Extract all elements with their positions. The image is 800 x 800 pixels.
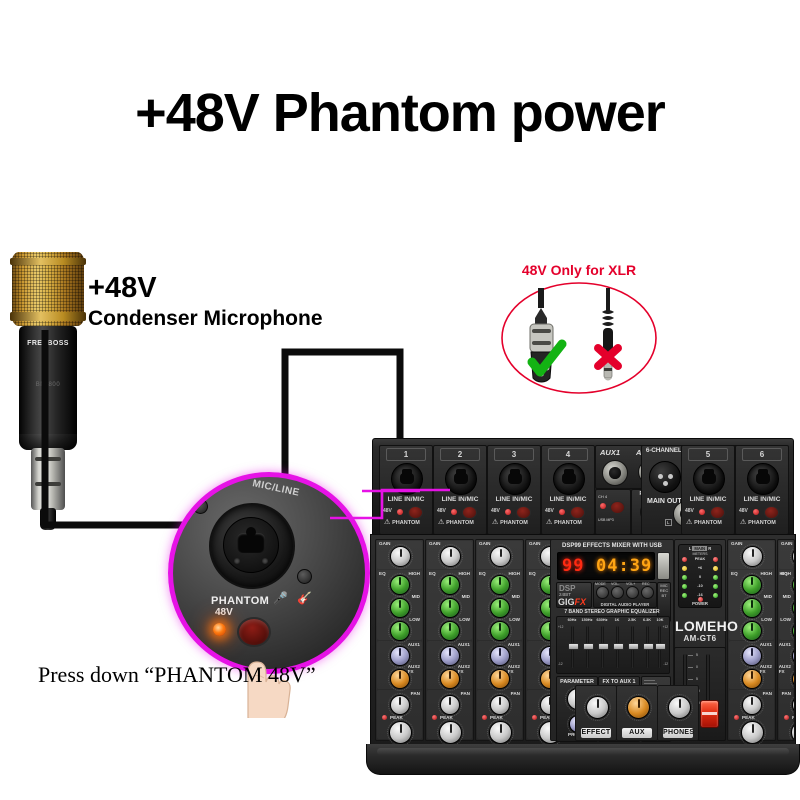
page-title: +48V Phantom power (0, 82, 800, 144)
channel-strip-5: GAINEQHIGHMIDLOWAUX1AUX2FXPANPEAK5 (727, 539, 776, 741)
gain-knob-2[interactable] (440, 546, 461, 567)
eq-band-label-5: 6.3K (640, 618, 654, 622)
fader-scale-2: 5 (696, 677, 698, 681)
rear-48v-label: 48V (491, 508, 500, 514)
pan-label: PAN (782, 691, 791, 696)
magnifier-screw (193, 499, 208, 514)
dsp-header-label: DSP99 EFFECTS MIXER WITH USB (551, 543, 673, 549)
vu-led (713, 575, 718, 580)
gain-label: GAIN (529, 541, 540, 546)
low-label: LOW (761, 617, 772, 622)
aux1-knob-1[interactable] (390, 646, 410, 666)
eq-mid-knob-3[interactable] (490, 598, 510, 618)
magnifier-miclinetxt: MIC/LINE (231, 474, 321, 503)
combo-jack-3[interactable] (499, 463, 531, 495)
rear-48v-label: 48V (545, 508, 554, 514)
combo-jack-6[interactable] (747, 463, 779, 495)
high-label: HIGH (459, 571, 470, 576)
low-label: LOW (509, 617, 520, 622)
aux1-knob-2[interactable] (440, 646, 460, 666)
master-tag-effect: EFFECT (581, 728, 611, 738)
eq-low-knob-5[interactable] (742, 621, 762, 641)
line-in-mic-label: LINE IN/MIC (682, 496, 734, 503)
eq-title-label: 7 BAND STEREO GRAPHIC EQUALIZER (551, 609, 673, 615)
guitar-icon: 🎸 (297, 591, 312, 605)
eq-band-label-6: 10K (653, 618, 667, 622)
gain-label: GAIN (781, 541, 792, 546)
player-button-volminus[interactable] (611, 586, 624, 599)
channel-strip-2: GAINEQHIGHMIDLOWAUX1AUX2FXPANPEAK2 (425, 539, 474, 741)
aux2-fx-knob-2[interactable] (440, 669, 460, 689)
phantom-button-6[interactable] (764, 506, 779, 519)
line-in-mic-label: LINE IN/MIC (542, 496, 594, 503)
instruction-caption: Press down “PHANTOM 48V” (38, 662, 316, 688)
level-knob-6[interactable] (791, 721, 795, 741)
eq-scale-bottom-right: -12 (663, 662, 668, 666)
rear-channel-number: 3 (494, 448, 534, 461)
peak-led-4 (532, 715, 537, 720)
eq-low-knob-6[interactable] (792, 621, 795, 641)
rear-channel-3[interactable]: 3 LINE IN/MIC 48V ⚠ PHANTOM (487, 445, 541, 535)
vu-row-minus10: -10 (682, 584, 718, 591)
aux2-fx-knob-6[interactable] (792, 669, 795, 689)
aux1-label: AUX1 (760, 642, 772, 647)
gain-knob-3[interactable] (490, 546, 511, 567)
mic-band-top (10, 258, 86, 265)
gain-label: GAIN (429, 541, 440, 546)
aux1-knob-6[interactable] (792, 646, 795, 666)
pan-knob-3[interactable] (490, 695, 510, 715)
aux2-fx-knob-1[interactable] (390, 669, 410, 689)
player-title-label: DIGITAL AUDIO PLAYER (594, 602, 656, 607)
mic-band-bottom (10, 312, 86, 321)
eq-high-knob-5[interactable] (742, 575, 762, 595)
high-label: HIGH (509, 571, 520, 576)
aux1-label: AUX1 (779, 642, 791, 647)
dsp-logo: DSP 24BIT GIGFX (556, 582, 592, 608)
ch4-label: CH 4 (598, 494, 607, 499)
eq-mid-knob-5[interactable] (742, 598, 762, 618)
aux2-fx-label: AUX2FX (779, 665, 791, 674)
rear-channel-number: 1 (386, 448, 426, 461)
low-label: LOW (780, 617, 791, 622)
channel-strip-1: GAINEQHIGHMIDLOWAUX1AUX2FXPANPEAK1 (375, 539, 424, 741)
aux1-label: AUX1 (458, 642, 470, 647)
combo-jack-2[interactable] (445, 463, 477, 495)
vu-row-peak: PEAK (682, 557, 718, 564)
aux1-knob-3[interactable] (490, 646, 510, 666)
aux2-fx-knob-5[interactable] (742, 669, 762, 689)
gain-knob-1[interactable] (390, 546, 411, 567)
gain-label: GAIN (731, 541, 742, 546)
graphic-equalizer: +12 -12 +12 -12 60Hz 150Hz 630Hz 1K 2.5K… (556, 616, 670, 674)
rear-channel-6[interactable]: 6 LINE IN/MIC 48V ⚠ PHANTOM (735, 445, 789, 535)
phantom-led-4 (559, 509, 565, 515)
magnifier-phantom-label: PHANTOM (211, 595, 269, 607)
pan-knob-1[interactable] (390, 695, 410, 715)
peak-label: PEAK (792, 715, 795, 720)
mixer-top-panel: GAINEQHIGHMIDLOWAUX1AUX2FXPANPEAK1 GAINE… (370, 534, 796, 748)
rear-48v-label: 48V (739, 508, 748, 514)
led-display: 99 04:39 (557, 552, 655, 580)
eq-label: EQ (479, 571, 486, 576)
eq-slider-3[interactable] (613, 643, 624, 650)
level-knob-1[interactable] (389, 721, 412, 744)
vu-header: L MAIN R (679, 546, 721, 551)
peak-led-5 (734, 715, 739, 720)
mid-label: MID (412, 594, 420, 599)
phantom-led (213, 623, 226, 636)
mid-label: MID (764, 594, 772, 599)
phantom-switch-magnifier: MIC/LINE PHANTOM 48V 🎤 🎸 (168, 472, 368, 672)
program-number-display: 99 (562, 556, 584, 576)
mic-48v-label: +48V (88, 272, 157, 305)
magnifier-jack-pin (262, 558, 268, 564)
vu-power-label: POWER (679, 601, 721, 606)
vu-led (713, 584, 718, 589)
phantom-button-3[interactable] (516, 506, 531, 519)
eq-mid-knob-2[interactable] (440, 598, 460, 618)
player-button-volplus[interactable] (626, 586, 639, 599)
digital-audio-player: MODE VOL- VOL+ REC DIGITAL AUDIO PLAYER (593, 582, 657, 608)
effect-knob[interactable] (586, 696, 609, 719)
vu-meter: L MAIN R METERS PEAK +6 0 (678, 544, 722, 608)
xlr-callout-title: 48V Only for XLR (484, 262, 674, 278)
rear-phantom-label: PHANTOM (682, 520, 734, 526)
rear-channel-number: 2 (440, 448, 480, 461)
peak-led-2 (432, 715, 437, 720)
magnifier-screw (297, 569, 312, 584)
rear-channel-number: 5 (688, 448, 728, 461)
rear-48v-label: 48V (437, 508, 446, 514)
phantom-button-5[interactable] (710, 506, 725, 519)
combo-jack-4[interactable] (553, 463, 585, 495)
eq-slider-0[interactable] (568, 643, 579, 650)
rear-channel-4[interactable]: 4 LINE IN/MIC 48V ⚠ PHANTOM (541, 445, 595, 535)
peak-led-1 (382, 715, 387, 720)
level-knob-2[interactable] (439, 721, 462, 744)
master-section-phones: PHONES (657, 685, 699, 741)
high-label: HIGH (409, 571, 420, 576)
phantom-button-2[interactable] (462, 506, 477, 519)
pan-label: PAN (411, 691, 420, 696)
eq-mid-knob-1[interactable] (390, 598, 410, 618)
eq-slider-5[interactable] (643, 643, 654, 650)
line-in-mic-label: LINE IN/MIC (488, 496, 540, 503)
mid-label: MID (512, 594, 520, 599)
ch4-usb-button[interactable] (610, 501, 625, 514)
combo-jack-5[interactable] (693, 463, 725, 495)
eq-band-label-0: 60Hz (565, 618, 579, 622)
eq-high-knob-6[interactable] (792, 575, 795, 595)
eq-label: EQ (379, 571, 386, 576)
master-section-aux: AUX (616, 685, 658, 741)
high-label: HIGH (780, 571, 791, 576)
main-out-l-tag: L (665, 519, 672, 526)
phantom-button-4[interactable] (570, 506, 585, 519)
magnifier-combo-jack[interactable] (209, 503, 295, 589)
fader-scale-0: 5 (696, 653, 698, 657)
vu-led (713, 566, 718, 571)
rear-channel-5[interactable]: 5 LINE IN/MIC 48V ⚠ PHANTOM (681, 445, 735, 535)
eq-scale-bottom: -12 (558, 662, 563, 666)
aux-knob[interactable] (627, 696, 650, 719)
peak-led-3 (482, 715, 487, 720)
low-label: LOW (459, 617, 470, 622)
brand-name: LOMEHO (675, 618, 725, 634)
level-knob-3[interactable] (489, 721, 512, 744)
mid-label: MID (462, 594, 470, 599)
aux1-label: AUX1 (600, 448, 620, 457)
pan-label: PAN (461, 691, 470, 696)
phantom-led-1 (397, 509, 403, 515)
line-in-mic-label: LINE IN/MIC (736, 496, 788, 503)
audio-mixer-device: 1 LINE IN/MIC 48V ⚠ PHANTOM 2 LINE IN/MI… (362, 438, 798, 778)
mixer-front-edge (366, 744, 800, 775)
combo-jack-1[interactable] (391, 463, 423, 495)
mic-name-label: Condenser Microphone (88, 307, 323, 331)
pan-knob-2[interactable] (440, 695, 460, 715)
eq-mid-knob-6[interactable] (792, 598, 795, 618)
vu-sub-label: METERS (679, 552, 721, 556)
rear-channel-1[interactable]: 1 LINE IN/MIC 48V ⚠ PHANTOM (379, 445, 433, 535)
aux2-fx-knob-3[interactable] (490, 669, 510, 689)
aux1-label: AUX1 (508, 642, 520, 647)
mixer-rear-panel: 1 LINE IN/MIC 48V ⚠ PHANTOM 2 LINE IN/MI… (372, 438, 794, 538)
eq-high-knob-3[interactable] (490, 575, 510, 595)
aux1-knob-5[interactable] (742, 646, 762, 666)
rear-channel-2[interactable]: 2 LINE IN/MIC 48V ⚠ PHANTOM (433, 445, 487, 535)
peak-led-6 (784, 715, 789, 720)
main-out-xlr-left[interactable] (649, 461, 681, 493)
eq-band-label-3: 1K (610, 618, 624, 622)
microphone-icon: 🎤 (273, 591, 288, 605)
magnifier-jack-pin (234, 558, 240, 564)
rear-phantom-label: PHANTOM (542, 520, 594, 526)
player-button-mode[interactable] (596, 586, 609, 599)
eq-band-label-2: 630Hz (595, 618, 609, 622)
channel-strip-3: GAINEQHIGHMIDLOWAUX1AUX2FXPANPEAK3 (475, 539, 524, 741)
eq-slider-4[interactable] (628, 643, 639, 650)
ts-jack-graphic (602, 288, 614, 381)
gain-knob-6[interactable] (792, 546, 795, 567)
xlr-callout-diagram (484, 282, 674, 394)
vu-led (713, 557, 718, 562)
gain-label: GAIN (479, 541, 490, 546)
magnifier-jack-inner (223, 517, 279, 573)
master-tag-aux: AUX (622, 728, 652, 738)
magnifier-jack-slot (237, 533, 265, 553)
level-knob-5[interactable] (741, 721, 764, 744)
master-tag-phones: PHONES (663, 728, 693, 738)
fader-scale-1: 0 (696, 665, 698, 669)
pan-knob-6[interactable] (792, 695, 795, 715)
eq-band-label-1: 150Hz (580, 618, 594, 622)
rear-channel-number: 4 (548, 448, 588, 461)
magnifier-48v-label: 48V (215, 607, 233, 618)
vu-led (713, 593, 718, 598)
ch4-led (600, 503, 606, 509)
usb-port[interactable] (657, 552, 670, 580)
ch4-usb-selector-panel[interactable]: CH 4 USB MP3 (595, 489, 631, 535)
eq-scale-top: +12 (558, 625, 563, 629)
pan-label: PAN (763, 691, 772, 696)
aux1-label: AUX1 (408, 642, 420, 647)
eq-label: EQ (429, 571, 436, 576)
aux1-jack[interactable] (602, 460, 628, 486)
low-label: LOW (409, 617, 420, 622)
usb-mp3-label: USB MP3 (598, 518, 614, 522)
eq-low-knob-2[interactable] (440, 621, 460, 641)
vu-row-plus6: +6 (682, 566, 718, 573)
phantom-led-5 (699, 509, 705, 515)
line-in-mic-label: LINE IN/MIC (434, 496, 486, 503)
eq-low-knob-3[interactable] (490, 621, 510, 641)
vu-row-zero: 0 (682, 575, 718, 582)
brand-model: AM-GT6 (675, 634, 725, 643)
phantom-led-2 (451, 509, 457, 515)
eq-low-knob-1[interactable] (390, 621, 410, 641)
rear-48v-label: 48V (383, 508, 392, 514)
eq-high-knob-1[interactable] (390, 575, 410, 595)
dsp-logo-line3: GIGFX (558, 597, 586, 607)
mid-label: MID (783, 594, 791, 599)
eq-scale-top-right: +12 (663, 625, 668, 629)
master-section-effect: EFFECT (575, 685, 617, 741)
main-fader-right[interactable] (700, 700, 719, 728)
player-button-rec[interactable] (641, 586, 654, 599)
rear-48v-label: 48V (685, 508, 694, 514)
xlr-only-callout: 48V Only for XLR (484, 262, 674, 392)
rear-phantom-label: PHANTOM (434, 520, 486, 526)
line-in-mic-label: LINE IN/MIC (380, 496, 432, 503)
eq-label: EQ (529, 571, 536, 576)
phantom-led-6 (753, 509, 759, 515)
eq-label: EQ (731, 571, 738, 576)
high-label: HIGH (761, 571, 772, 576)
eq-slider-6[interactable] (655, 643, 666, 650)
eq-slider-1[interactable] (583, 643, 594, 650)
phones-knob[interactable] (668, 696, 691, 719)
gain-knob-5[interactable] (742, 546, 763, 567)
time-display: 04:39 (596, 556, 652, 576)
gain-label: GAIN (379, 541, 390, 546)
channel-strip-6: GAINEQHIGHMIDLOWAUX1AUX2FXPANPEAK6 (777, 539, 795, 741)
phantom-button-1[interactable] (408, 506, 423, 519)
rear-phantom-label: PHANTOM (736, 520, 788, 526)
rear-channel-number: 6 (742, 448, 782, 461)
rear-phantom-label: PHANTOM (488, 520, 540, 526)
eq-slider-2[interactable] (598, 643, 609, 650)
eq-high-knob-2[interactable] (440, 575, 460, 595)
eq-band-label-4: 2.5K (625, 618, 639, 622)
pan-knob-5[interactable] (742, 695, 762, 715)
pan-label: PAN (511, 691, 520, 696)
rear-phantom-label: PHANTOM (380, 520, 432, 526)
phantom-led-3 (505, 509, 511, 515)
